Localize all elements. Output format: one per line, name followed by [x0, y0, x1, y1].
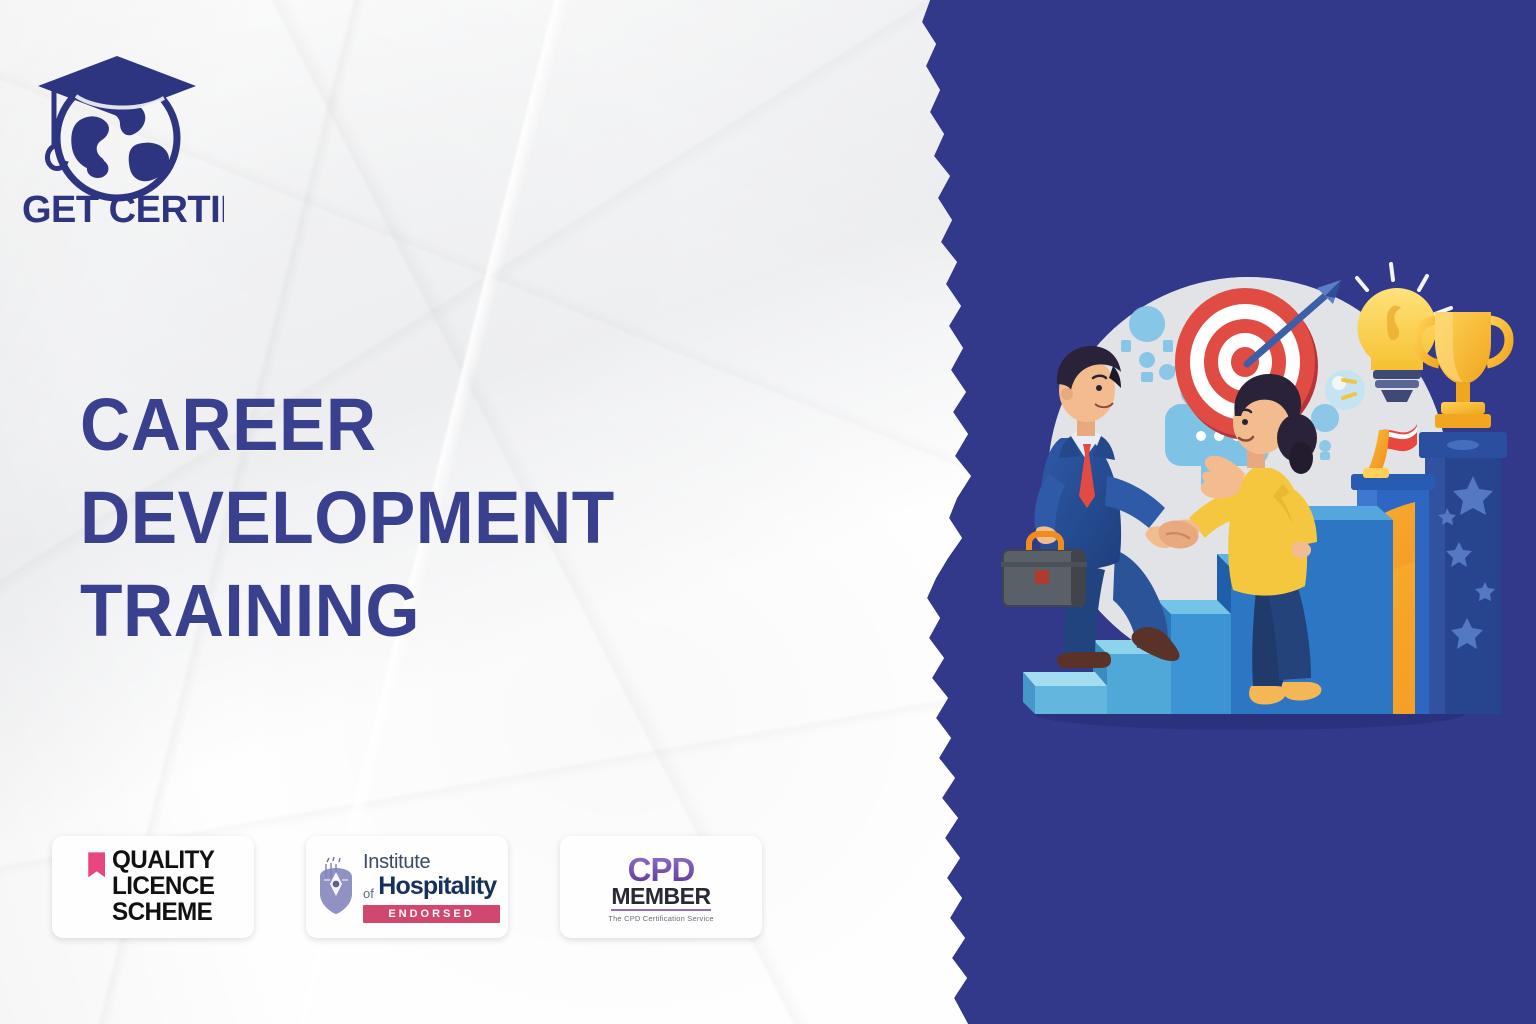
ioh-line-1: Institute: [363, 852, 500, 872]
cpd-line-2: MEMBER: [611, 885, 710, 911]
qls-text: QUALITY LICENCE SCHEME: [112, 848, 214, 925]
badge-institute-of-hospitality[interactable]: Institute of Hospitality ENDORSED: [306, 836, 508, 938]
career-growth-illustration: [995, 262, 1525, 752]
ioh-line-2-small: of: [363, 886, 374, 901]
qls-line-1: QUALITY: [112, 848, 214, 874]
brand-logo[interactable]: GET CERTIFY: [14, 28, 224, 228]
crest-icon: [314, 856, 358, 918]
badge-cpd-member[interactable]: CPD MEMBER The CPD Certification Service: [560, 836, 762, 938]
ioh-ribbon: ENDORSED: [363, 905, 500, 923]
bookmark-icon: [88, 852, 105, 877]
accreditation-badges: QUALITY LICENCE SCHEME Institute of Hosp…: [52, 836, 762, 938]
headline-line-1: CAREER DEVELOPMENT: [80, 383, 615, 559]
page-title: CAREER DEVELOPMENT TRAINING: [80, 378, 794, 658]
logo-wordmark: GET CERTIFY: [22, 189, 224, 228]
cpd-line-1: CPD: [560, 855, 762, 885]
graduation-cap-globe-icon: [38, 56, 196, 198]
bubble-icon: [1325, 370, 1365, 410]
cpd-subtext: The CPD Certification Service: [560, 914, 762, 923]
ioh-line-2-bold: Hospitality: [378, 872, 496, 900]
ioh-text: Institute of Hospitality ENDORSED: [363, 852, 500, 923]
qls-line-2: LICENCE: [112, 874, 214, 900]
badge-quality-licence-scheme[interactable]: QUALITY LICENCE SCHEME: [52, 836, 254, 938]
headline-line-2: TRAINING: [80, 564, 794, 657]
qls-line-3: SCHEME: [112, 900, 214, 926]
